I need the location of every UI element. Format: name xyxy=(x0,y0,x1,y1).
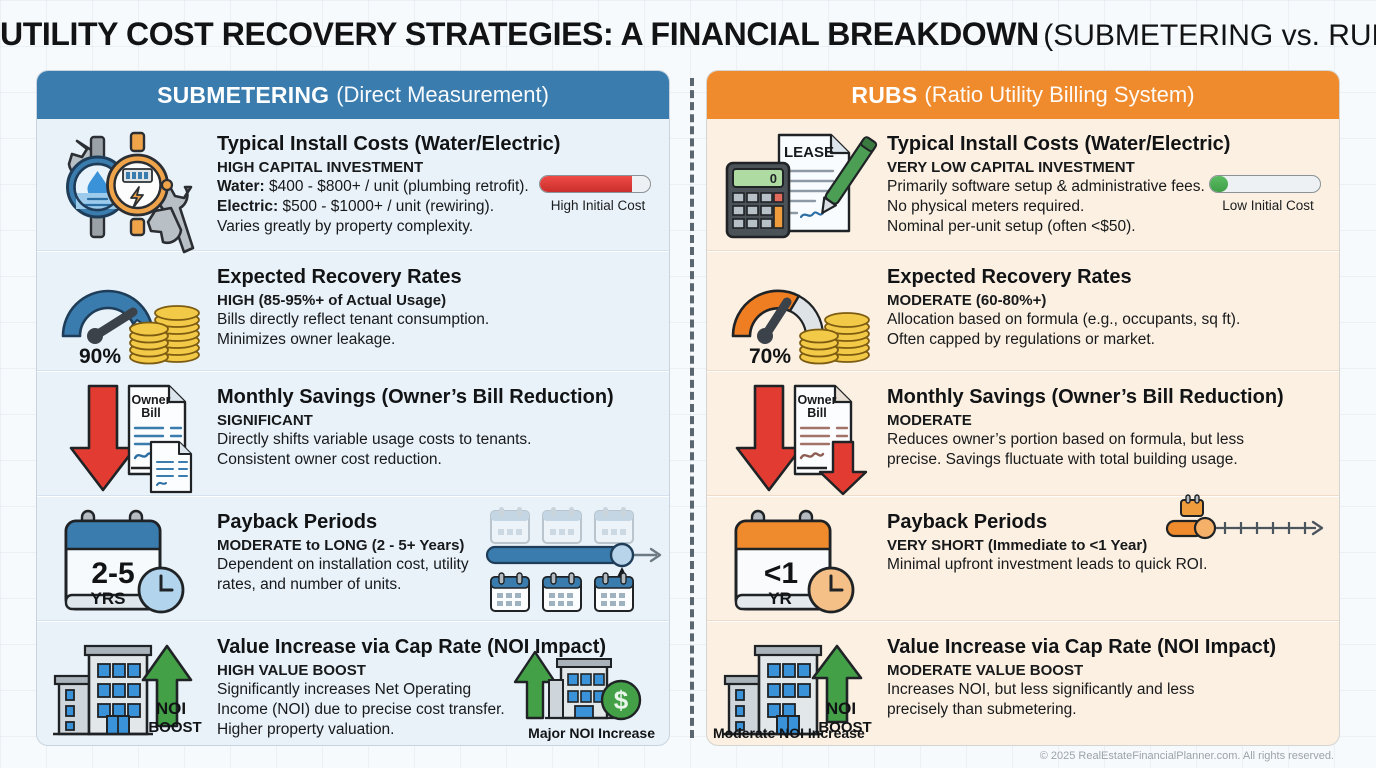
row-body-payback-submetering: Payback Periods MODERATE to LONG (2 - 5+… xyxy=(217,505,659,595)
row-line: Allocation based on formula (e.g., occup… xyxy=(887,310,1329,330)
row-payback-submetering: 2-5 YRS Payback Periods MODERATE to LONG… xyxy=(37,497,669,622)
infographic-page: UTILITY COST RECOVERY STRATEGIES: A FINA… xyxy=(0,0,1376,768)
svg-text:BOOST: BOOST xyxy=(148,719,201,736)
calendar-clock-icon: <1 YR xyxy=(715,505,887,617)
svg-text:NOI: NOI xyxy=(156,699,186,718)
page-title: UTILITY COST RECOVERY STRATEGIES: A FINA… xyxy=(0,16,1376,53)
row-body-recovery-rates-rubs: Expected Recovery Rates MODERATE (60-80%… xyxy=(887,260,1329,350)
lease-doc-label: LEASE xyxy=(784,144,834,161)
svg-text:Bill: Bill xyxy=(141,406,160,420)
svg-text:Bill: Bill xyxy=(807,406,826,420)
row-line: precisely than submetering. xyxy=(887,700,1329,720)
down-arrow-owner-bill-icon: Owner Bill xyxy=(715,380,887,495)
row-line: Often capped by regulations or market. xyxy=(887,330,1329,350)
page-title-paren: (SUBMETERING vs. RUBS) xyxy=(1043,19,1376,52)
svg-text:NOI: NOI xyxy=(826,699,856,718)
row-line: Directly shifts variable usage costs to … xyxy=(217,430,659,450)
row-line: Nominal per-unit setup (often <$50). xyxy=(887,217,1329,237)
row-subtitle: SIGNIFICANT xyxy=(217,412,659,430)
cost-bar-fill xyxy=(1210,176,1228,192)
row-subtitle: HIGH (85-95%+ of Actual Usage) xyxy=(217,292,659,310)
row-body-monthly-savings-submetering: Monthly Savings (Owner’s Bill Reduction)… xyxy=(217,380,659,470)
column-header-submetering: SUBMETERING (Direct Measurement) xyxy=(37,71,669,119)
calendar-unit-label: YRS xyxy=(91,589,126,608)
row-body-value-increase-rubs: Value Increase via Cap Rate (NOI Impact)… xyxy=(887,630,1329,720)
cost-bar-caption: High Initial Cost xyxy=(539,198,657,213)
cost-bar-fill xyxy=(540,176,632,192)
row-line: Minimizes owner leakage. xyxy=(217,330,659,350)
cost-bar-caption: Low Initial Cost xyxy=(1209,198,1327,213)
major-noi-increase-graphic: $ xyxy=(511,644,661,722)
row-subtitle: MODERATE VALUE BOOST xyxy=(887,662,1329,680)
svg-text:0: 0 xyxy=(770,171,777,186)
calendar-value-label: <1 xyxy=(764,557,798,590)
initial-cost-meter-submetering: High Initial Cost xyxy=(539,175,657,213)
payback-timeline-submetering xyxy=(485,503,663,611)
row-body-value-increase-submetering: Value Increase via Cap Rate (NOI Impact)… xyxy=(217,630,659,740)
moderate-noi-increase-caption: Moderate NOI Increase xyxy=(713,725,865,741)
row-line: Varies greatly by property complexity. xyxy=(217,217,659,237)
row-recovery-rates-rubs: 70% Expected Recovery Rates MODERATE (60… xyxy=(707,252,1339,372)
row-title: Typical Install Costs (Water/Electric) xyxy=(217,133,659,157)
row-body-recovery-rates-submetering: Expected Recovery Rates HIGH (85-95%+ of… xyxy=(217,260,659,350)
initial-cost-meter-rubs: Low Initial Cost xyxy=(1209,175,1327,213)
gauge-value-label: 90% xyxy=(79,345,121,368)
row-body-payback-rubs: Payback Periods VERY SHORT (Immediate to… xyxy=(887,505,1329,575)
row-body-monthly-savings-rubs: Monthly Savings (Owner’s Bill Reduction)… xyxy=(887,380,1329,470)
column-header-light: (Direct Measurement) xyxy=(336,82,549,108)
row-body-install-costs-rubs: Typical Install Costs (Water/Electric) V… xyxy=(887,127,1329,237)
row-line: precise. Savings fluctuate with total bu… xyxy=(887,450,1329,470)
row-line: Bills directly reflect tenant consumptio… xyxy=(217,310,659,330)
column-submetering: SUBMETERING (Direct Measurement) xyxy=(36,70,670,746)
major-noi-increase-caption: Major NOI Increase xyxy=(528,725,655,741)
row-line: Increases NOI, but less significantly an… xyxy=(887,680,1329,700)
payback-timeline-rubs xyxy=(1163,491,1333,561)
svg-text:Owner: Owner xyxy=(798,393,837,407)
column-header-strong: SUBMETERING xyxy=(157,82,329,109)
row-install-costs-submetering: Typical Install Costs (Water/Electric) H… xyxy=(37,119,669,252)
down-arrow-owner-bill-icon: Owner Bill xyxy=(45,380,217,495)
row-title: Monthly Savings (Owner’s Bill Reduction) xyxy=(217,386,659,410)
row-subtitle: MODERATE xyxy=(887,412,1329,430)
column-divider xyxy=(690,78,694,738)
building-noi-boost-icon: NOI BOOST xyxy=(45,630,217,742)
row-monthly-savings-rubs: Owner Bill Monthly Savings (Owner’s Bill… xyxy=(707,372,1339,497)
row-title: Value Increase via Cap Rate (NOI Impact) xyxy=(887,636,1329,660)
cost-bar-track xyxy=(539,175,651,193)
column-header-light: (Ratio Utility Billing System) xyxy=(924,82,1194,108)
column-rubs: RUBS (Ratio Utility Billing System) LEAS… xyxy=(706,70,1340,746)
gauge-coins-icon: 70% xyxy=(715,260,887,368)
row-subtitle: MODERATE (60-80%+) xyxy=(887,292,1329,310)
row-value-increase-rubs: NOI BOOST Value Increase via Cap Rate (N… xyxy=(707,622,1339,746)
calendar-value-label: 2-5 xyxy=(91,557,134,590)
page-title-main: UTILITY COST RECOVERY STRATEGIES: A FINA… xyxy=(0,16,1039,52)
row-title: Expected Recovery Rates xyxy=(217,266,659,290)
row-title: Monthly Savings (Owner’s Bill Reduction) xyxy=(887,386,1329,410)
row-title: Expected Recovery Rates xyxy=(887,266,1329,290)
gauge-value-label: 70% xyxy=(749,345,791,368)
row-install-costs-rubs: LEASE 0 xyxy=(707,119,1339,252)
row-title: Typical Install Costs (Water/Electric) xyxy=(887,133,1329,157)
water-electric-meter-wrench-icon xyxy=(45,127,217,245)
column-header-strong: RUBS xyxy=(851,82,917,109)
row-body-install-costs-submetering: Typical Install Costs (Water/Electric) H… xyxy=(217,127,659,237)
column-header-rubs: RUBS (Ratio Utility Billing System) xyxy=(707,71,1339,119)
cost-bar-track xyxy=(1209,175,1321,193)
calculator-lease-pen-icon: LEASE 0 xyxy=(715,127,887,245)
svg-text:Owner: Owner xyxy=(132,393,171,407)
calendar-clock-icon: 2-5 YRS xyxy=(45,505,217,617)
row-line: Reduces owner’s portion based on formula… xyxy=(887,430,1329,450)
gauge-coins-icon: 90% xyxy=(45,260,217,368)
calendar-unit-label: YR xyxy=(768,589,792,608)
row-payback-rubs: <1 YR Payback Periods VERY SHORT (Immedi… xyxy=(707,497,1339,622)
row-monthly-savings-submetering: Owner Bill xyxy=(37,372,669,497)
svg-text:$: $ xyxy=(614,685,629,715)
row-value-increase-submetering: NOI BOOST Value Increase via Cap Rate (N… xyxy=(37,622,669,746)
copyright-footer: © 2025 RealEstateFinancialPlanner.com. A… xyxy=(1040,750,1334,762)
row-line: Consistent owner cost reduction. xyxy=(217,450,659,470)
row-recovery-rates-submetering: 90% Expected Recovery Rates HIGH (85-95%… xyxy=(37,252,669,372)
